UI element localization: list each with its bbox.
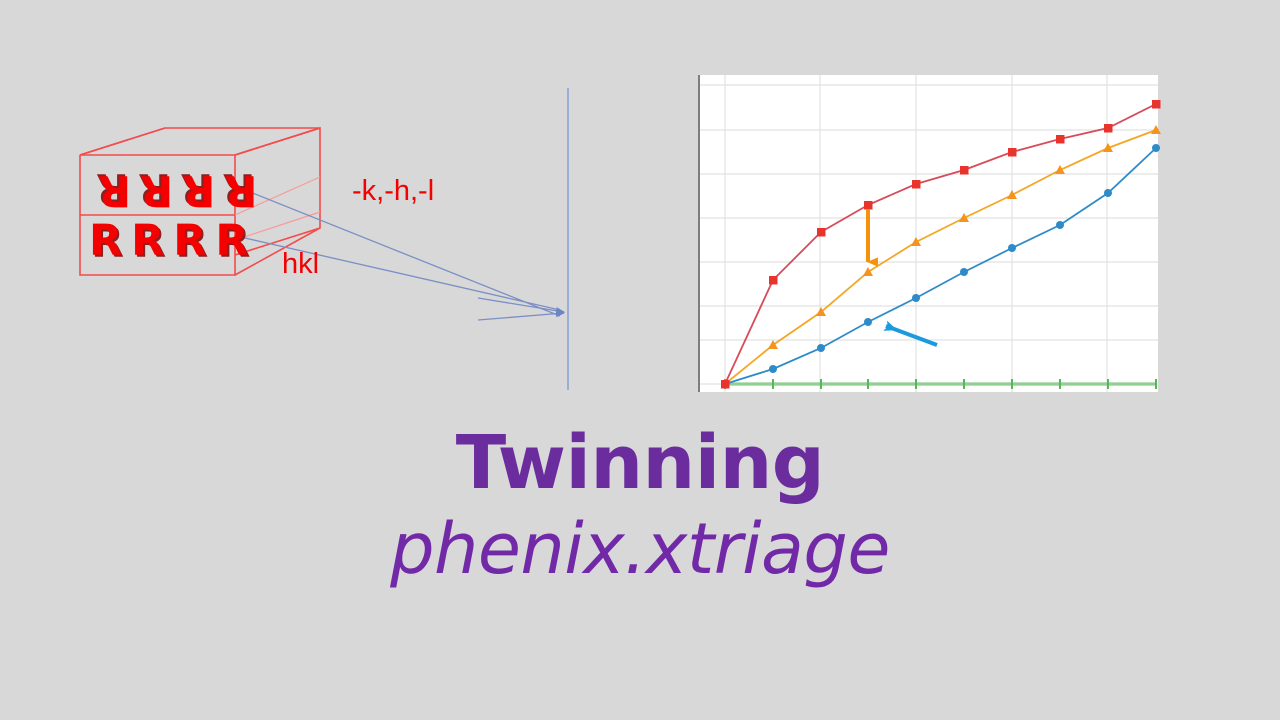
page-subtitle: phenix.xtriage <box>0 509 1280 590</box>
chart-svg <box>690 70 1170 400</box>
label-minus-k-minus-h-minus-l: -k,-h,-l <box>352 175 434 208</box>
divider-group <box>430 70 630 410</box>
title-block: Twinning phenix.xtriage <box>0 425 1280 589</box>
box-top-back-edge <box>80 128 320 155</box>
crystal-letters-flipped: RRRR <box>89 168 257 211</box>
box-top-left-edge <box>80 128 165 155</box>
label-hkl: hkl <box>282 248 319 281</box>
box-top-right-edge <box>235 128 320 155</box>
slide-canvas: RRRR RRRR -k,-h,-l hkl <box>0 0 1280 720</box>
converging-ray-lower <box>478 313 564 320</box>
crystal-letters-normal: RRRR <box>89 220 257 263</box>
converging-ray-upper <box>478 298 564 312</box>
divider-svg <box>430 70 630 410</box>
plot-background <box>698 75 1158 392</box>
page-title: Twinning <box>0 425 1280 503</box>
intensity-statistics-chart[interactable] <box>690 70 1170 400</box>
